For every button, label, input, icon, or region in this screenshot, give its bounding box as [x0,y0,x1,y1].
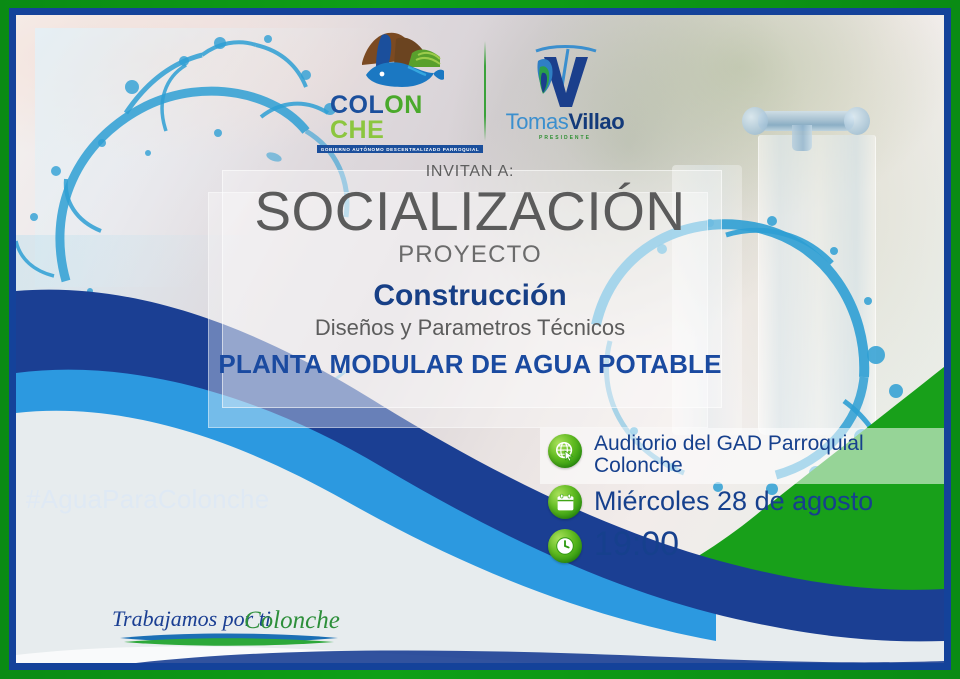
faucet-handle-left-icon [742,107,768,135]
tagline-script-svg: Trabajamos por ti Colonche [110,590,360,650]
faucet-handle-right-icon [844,107,870,135]
tv-last-name: Villao [568,109,624,134]
logo-divider [484,41,486,141]
colonche-logo: COLONCHE GOBIERNO AUTÓNOMO DESCENTRALIZA… [330,29,470,153]
info-row-time: 19:00 [548,527,948,563]
tagline-part2: Colonche [244,607,340,634]
background-water-glass [758,135,876,435]
page-title: SOCIALIZACIÓN [215,183,725,239]
faucet-spout-icon [792,125,812,151]
logo-row: COLONCHE GOBIERNO AUTÓNOMO DESCENTRALIZA… [330,28,630,154]
info-row-location: Auditorio del GAD Parroquial Colonche [548,432,948,477]
event-poster: COLONCHE GOBIERNO AUTÓNOMO DESCENTRALIZA… [0,0,960,679]
calendar-icon [548,485,582,519]
colonche-emblem-icon [356,29,444,91]
hashtag: #AguaParaColonche [26,484,269,515]
project-kicker: PROYECTO [215,241,725,269]
info-location-text: Auditorio del GAD Parroquial Colonche [594,432,948,477]
info-date-text: Miércoles 28 de agosto [594,487,873,515]
clock-icon [548,529,582,563]
project-object: PLANTA MODULAR DE AGUA POTABLE [215,349,725,380]
tv-monogram-icon [522,41,608,111]
project-subtitle: Diseños y Parametros Técnicos [215,315,725,341]
invitation-label: INVITAN A: [215,163,725,181]
project-name: Construcción [215,279,725,313]
tomas-villao-wordmark: TomasVillao [506,111,625,133]
event-info-list: Auditorio del GAD Parroquial Colonche Mi… [548,432,948,569]
tagline-lockup: Trabajamos por ti Colonche [110,590,360,650]
colonche-wordmark: COLONCHE [330,93,470,143]
location-globe-icon [548,434,582,468]
tv-first-name: Tomas [506,109,569,134]
info-time-text: 19:00 [594,527,679,563]
headline-block: INVITAN A: SOCIALIZACIÓN PROYECTO Constr… [215,163,725,380]
tv-subtitle: PRESIDENTE [539,135,591,141]
colonche-subtitle: GOBIERNO AUTÓNOMO DESCENTRALIZADO PARROQ… [317,145,484,153]
info-row-date: Miércoles 28 de agosto [548,483,948,519]
tomas-villao-logo: TomasVillao PRESIDENTE [500,41,630,141]
